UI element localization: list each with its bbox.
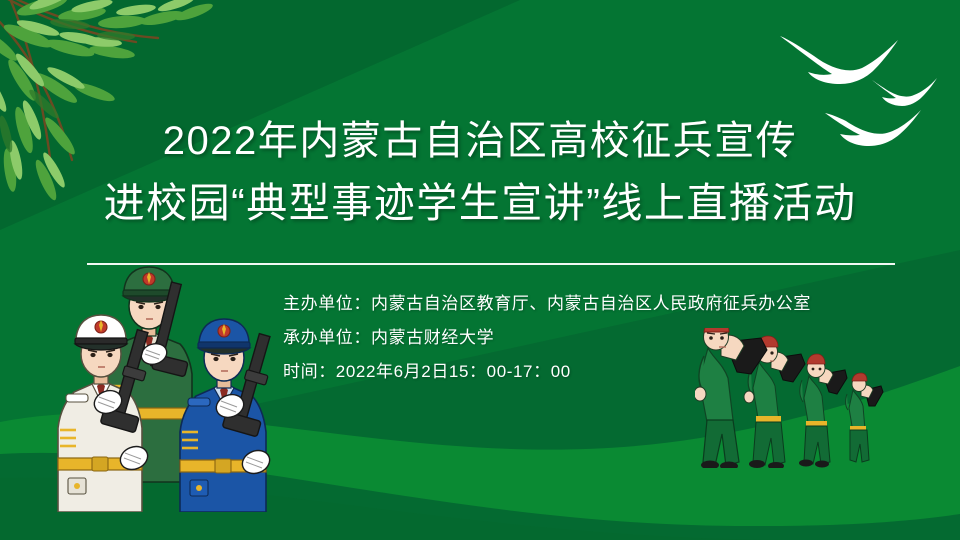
- soldier-air-force-blue: [180, 319, 284, 512]
- marching-recruits-illustration: [695, 328, 910, 468]
- honor-guard-soldiers-illustration: [50, 262, 285, 512]
- poster-title-line-1: 2022年内蒙古自治区高校征兵宣传: [0, 110, 960, 172]
- poster-title-block: 2022年内蒙古自治区高校征兵宣传 进校园“典型事迹学生宣讲”线上直播活动: [0, 110, 960, 234]
- recruit-4: [846, 373, 883, 462]
- organizer-line: 主办单位：内蒙古自治区教育厅、内蒙古自治区人民政府征兵办公室: [283, 287, 903, 321]
- poster-title-line-2: 进校园“典型事迹学生宣讲”线上直播活动: [0, 172, 960, 234]
- poster-canvas: 2022年内蒙古自治区高校征兵宣传 进校园“典型事迹学生宣讲”线上直播活动 主办…: [0, 0, 960, 540]
- recruit-3: [799, 354, 847, 468]
